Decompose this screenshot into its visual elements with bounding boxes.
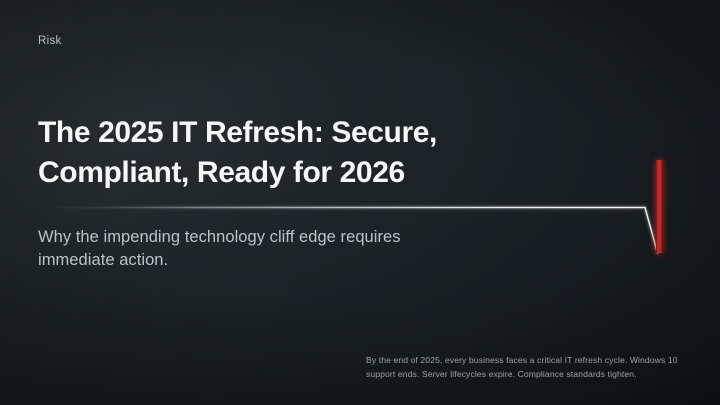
background-vignette <box>0 0 720 405</box>
slide-caption: By the end of 2025, every business faces… <box>366 354 684 382</box>
presentation-slide: Risk The 2025 IT Refresh: Secure, Compli… <box>0 0 720 405</box>
slide-subtitle: Why the impending technology cliff edge … <box>38 226 438 273</box>
slide-title: The 2025 IT Refresh: Secure, Compliant, … <box>38 113 508 192</box>
cliff-edge-graphic <box>0 0 720 405</box>
eyebrow-label: Risk <box>38 35 62 47</box>
background-sheen <box>0 0 720 405</box>
